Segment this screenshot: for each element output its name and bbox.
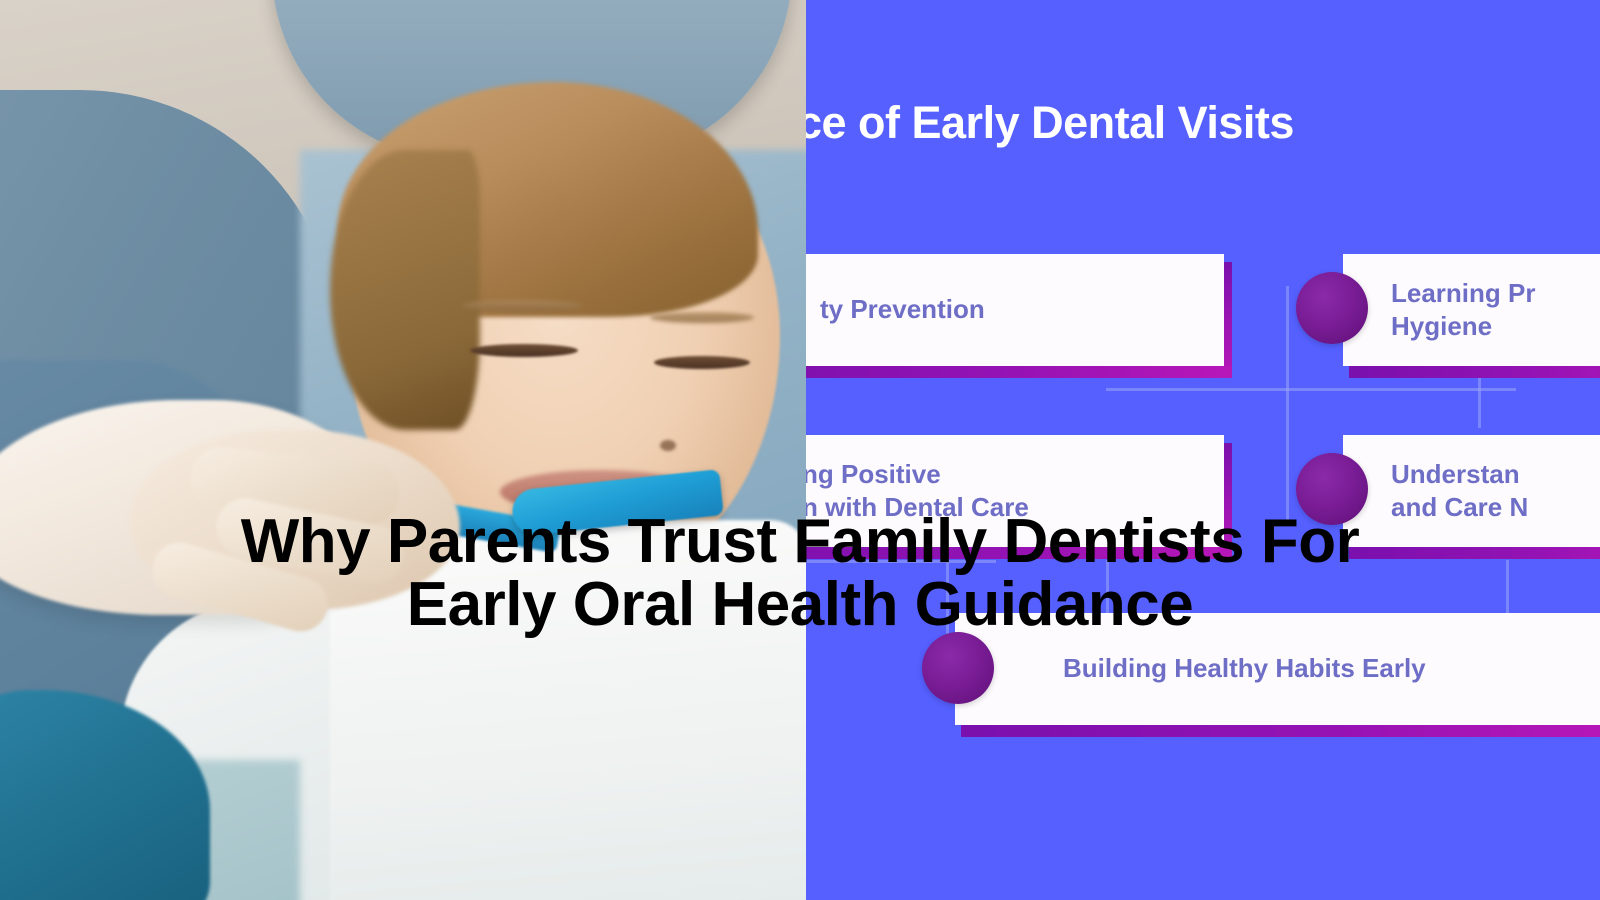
connector-line-vertical-2	[1286, 390, 1289, 520]
bullet-circle-icon-healthy-habits	[922, 632, 994, 704]
infographic-title: portance of Early Dental Visits	[806, 98, 1600, 148]
child-hair-side	[330, 150, 480, 430]
child-eye-left-closed	[470, 344, 578, 357]
article-hero-banner: portance of Early Dental Visits ty Preve…	[0, 0, 1600, 900]
bullet-circle-icon-learning-hygiene	[1296, 272, 1368, 344]
card-label-learning-proper-oral-hygiene: Learning Pr Hygiene	[1391, 277, 1535, 344]
child-eyebrow-left	[462, 300, 582, 311]
infographic-card-learning-proper-oral-hygiene: Learning Pr Hygiene	[1343, 254, 1600, 366]
early-dental-visits-infographic: portance of Early Dental Visits ty Preve…	[806, 0, 1600, 900]
card-label-building-healthy-habits-early: Building Healthy Habits Early	[1063, 652, 1426, 685]
connector-line-vertical-1	[1286, 286, 1289, 390]
child-nostril	[660, 440, 676, 451]
dental-visit-photo	[0, 0, 806, 900]
child-eye-right-closed	[654, 356, 750, 369]
child-eyebrow-right	[650, 312, 754, 323]
infographic-card-cavity-prevention: ty Prevention	[806, 254, 1224, 366]
connector-line-horizontal-1	[1106, 388, 1516, 391]
article-headline: Why Parents Trust Family Dentists For Ea…	[0, 510, 1600, 636]
card-label-cavity-prevention: ty Prevention	[820, 293, 985, 326]
